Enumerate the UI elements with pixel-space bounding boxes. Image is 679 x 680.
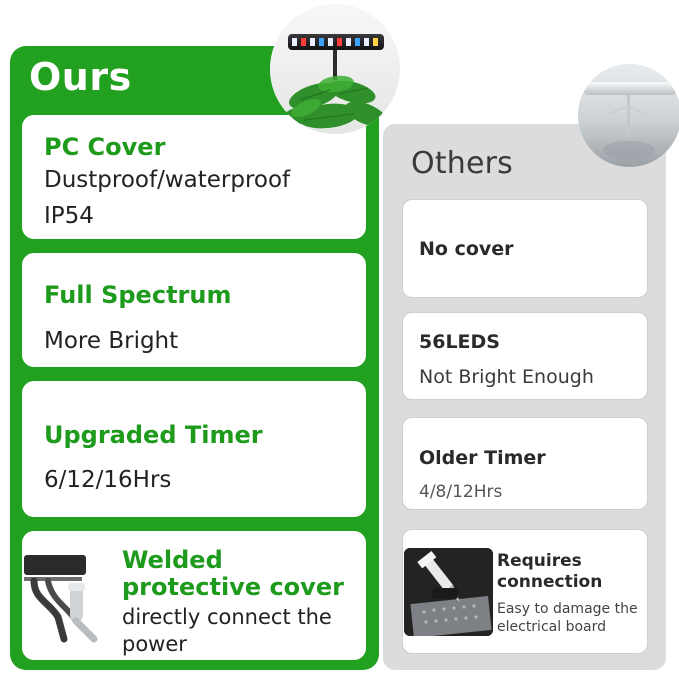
others-card-2-heading: 56LEDS	[419, 331, 500, 353]
others-connector-photo	[404, 548, 493, 636]
others-card-4-heading: Requires connection	[497, 551, 647, 593]
grow-light-over-plant-icon	[270, 4, 400, 134]
ours-card-1-heading: PC Cover	[44, 133, 165, 161]
others-card-3-heading: Older Timer	[419, 447, 546, 469]
ours-product-photo	[270, 4, 400, 134]
others-card-2-line-1: Not Bright Enough	[419, 366, 594, 388]
grey-grow-light-icon	[578, 64, 679, 167]
ours-title: Ours	[29, 55, 132, 99]
ours-card-2-line-1: More Bright	[44, 328, 178, 354]
ours-card-3	[22, 381, 366, 517]
others-card-1-heading: No cover	[419, 238, 514, 260]
ours-card-3-heading: Upgraded Timer	[44, 421, 263, 449]
others-title: Others	[411, 146, 513, 181]
ours-card-4-heading: Welded protective cover	[122, 547, 352, 601]
ours-card-3-line-1: 6/12/16Hrs	[44, 467, 171, 493]
screw-connection-icon	[404, 548, 493, 636]
ours-card-1-line-1: Dustproof/waterproof	[44, 167, 290, 193]
others-card-3-line-1: 4/8/12Hrs	[419, 482, 502, 502]
ours-card-4-line-1: directly connect the power	[122, 604, 352, 658]
ours-card-2-heading: Full Spectrum	[44, 281, 231, 309]
others-product-photo	[578, 64, 679, 167]
ours-connector-photo	[24, 547, 116, 645]
ours-card-1-line-2: IP54	[44, 203, 94, 229]
others-card-4-line-1: Easy to damage the electrical board	[497, 600, 642, 636]
welded-cover-connector-icon	[24, 547, 116, 645]
